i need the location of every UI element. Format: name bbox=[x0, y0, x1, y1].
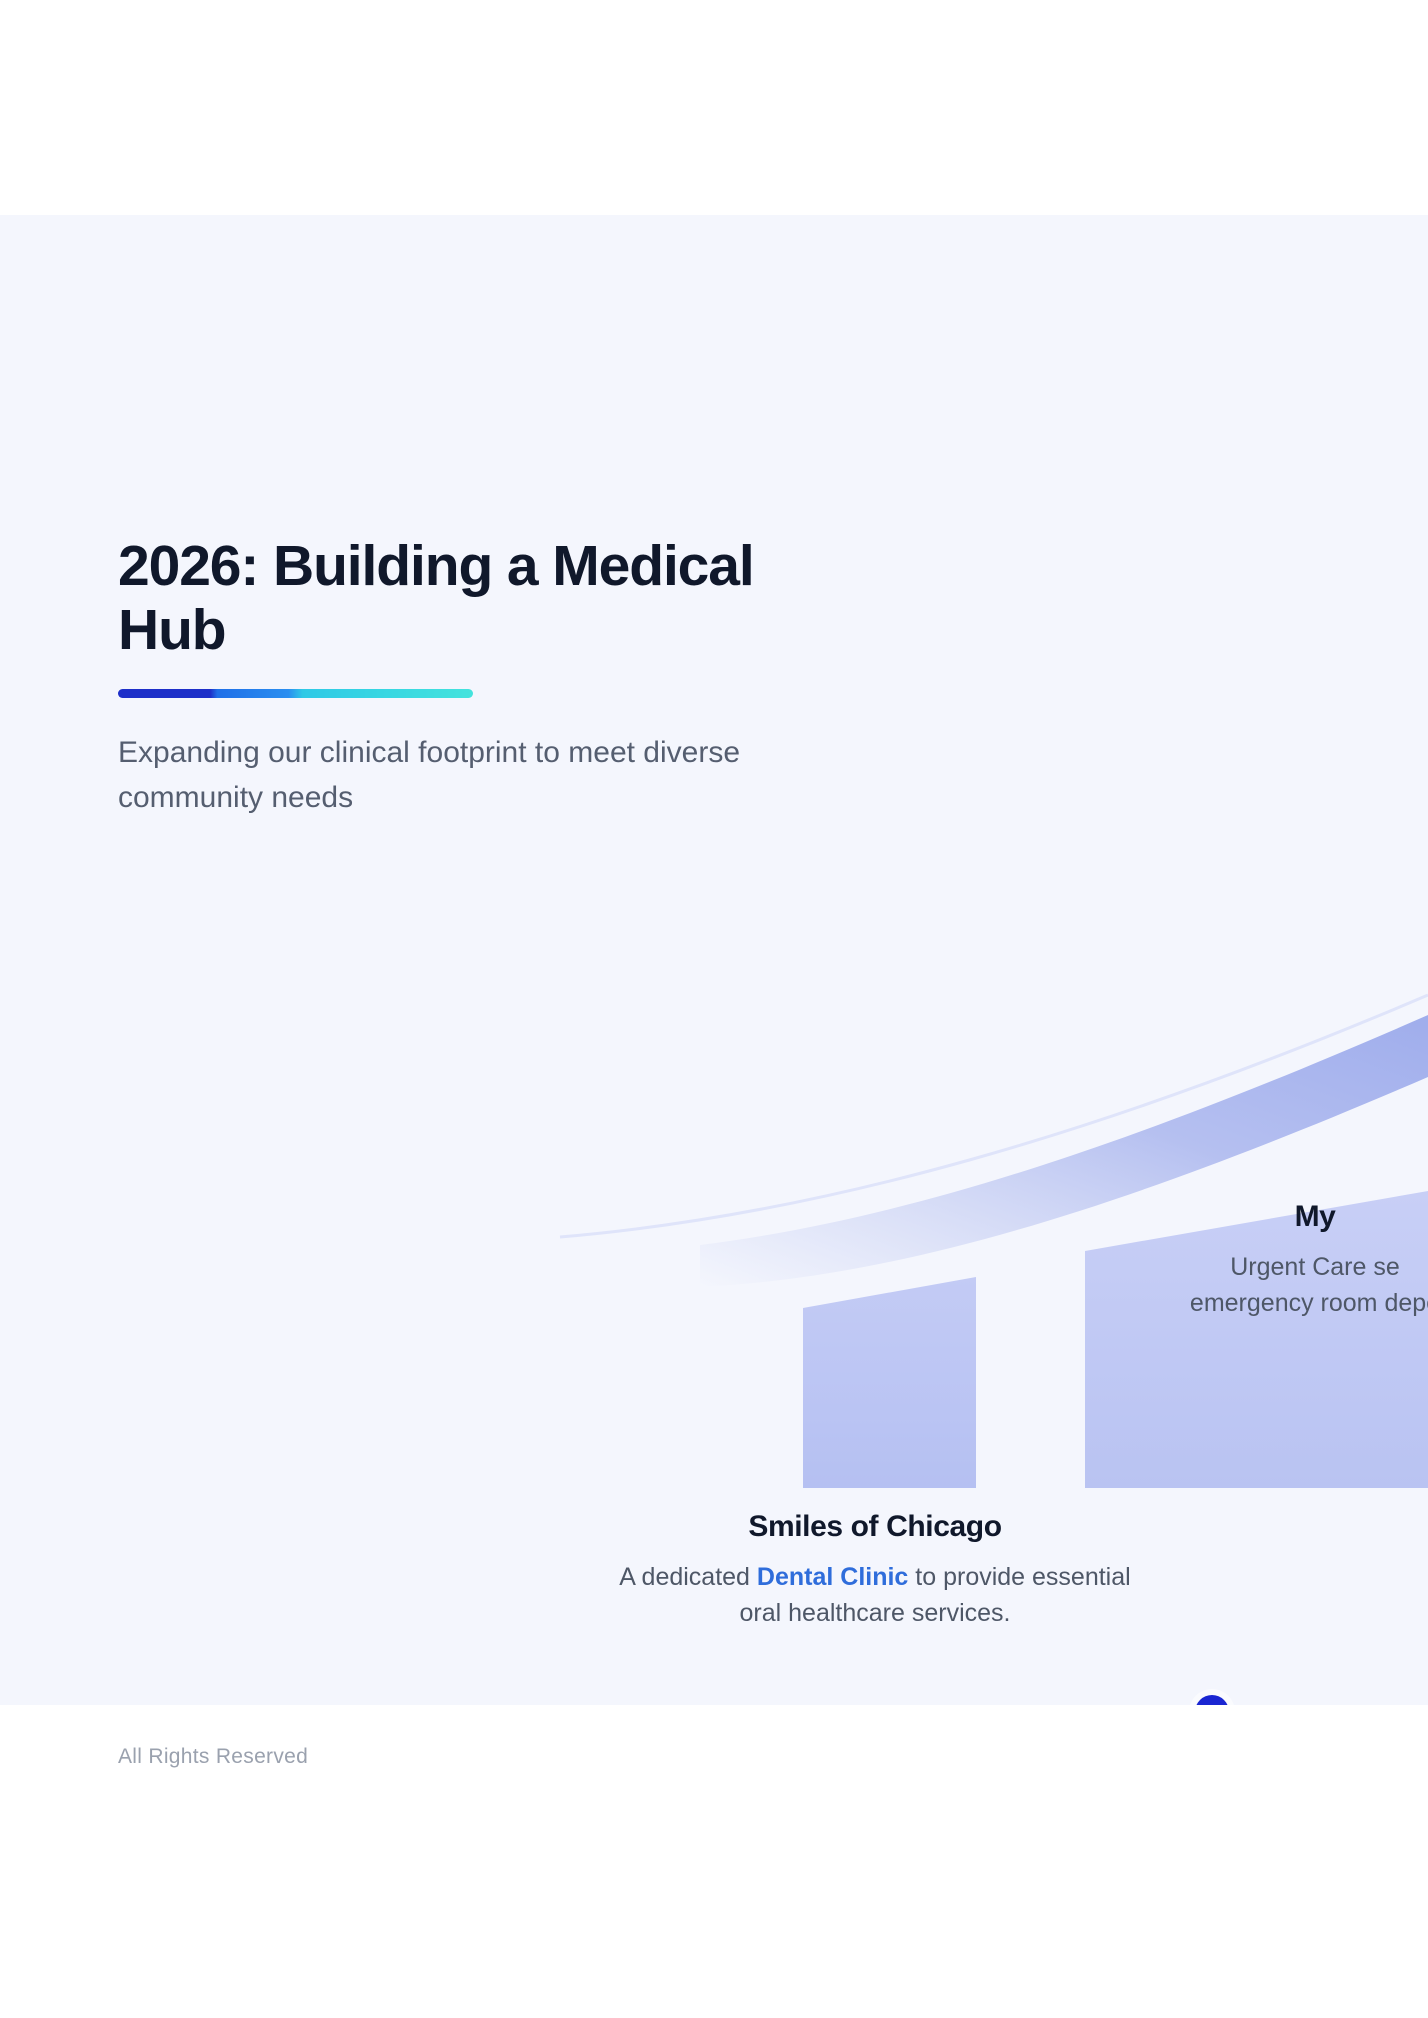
callout-urgent-care-line-1: Urgent Care se bbox=[1055, 1250, 1428, 1286]
callout-dental-clinic: Smiles of Chicago A dedicated Dental Cli… bbox=[615, 1510, 1135, 1631]
callout-dental-desc-prefix: A dedicated bbox=[619, 1563, 757, 1591]
callout-dental-clinic-description: A dedicated Dental Clinic to provide ess… bbox=[615, 1560, 1135, 1631]
callout-urgent-care-line-2: emergency room depe bbox=[1055, 1286, 1428, 1322]
node-marker-dot bbox=[1195, 1695, 1229, 1705]
page-title: 2026: Building a Medical Hub bbox=[118, 535, 758, 663]
footer-copyright: All Rights Reserved bbox=[118, 1745, 308, 1769]
decorative-bar-1 bbox=[803, 1277, 976, 1488]
slide-canvas: 2026: Building a Medical Hub Expanding o… bbox=[0, 215, 1428, 1705]
slide-page: 2026: Building a Medical Hub Expanding o… bbox=[0, 0, 1428, 2018]
title-gradient-rule bbox=[118, 689, 473, 698]
page-subtitle: Expanding our clinical footprint to meet… bbox=[118, 730, 778, 820]
background-shapes-svg bbox=[0, 215, 1428, 1705]
callout-urgent-care: My Urgent Care se emergency room depe bbox=[1055, 1200, 1428, 1321]
callout-dental-clinic-title: Smiles of Chicago bbox=[615, 1510, 1135, 1544]
callout-urgent-care-title: My bbox=[1055, 1200, 1428, 1234]
callout-urgent-care-description: Urgent Care se emergency room depe bbox=[1055, 1250, 1428, 1321]
decorative-artwork bbox=[0, 215, 1428, 1705]
headline-block: 2026: Building a Medical Hub Expanding o… bbox=[118, 535, 938, 820]
callout-dental-desc-highlight: Dental Clinic bbox=[757, 1563, 908, 1591]
